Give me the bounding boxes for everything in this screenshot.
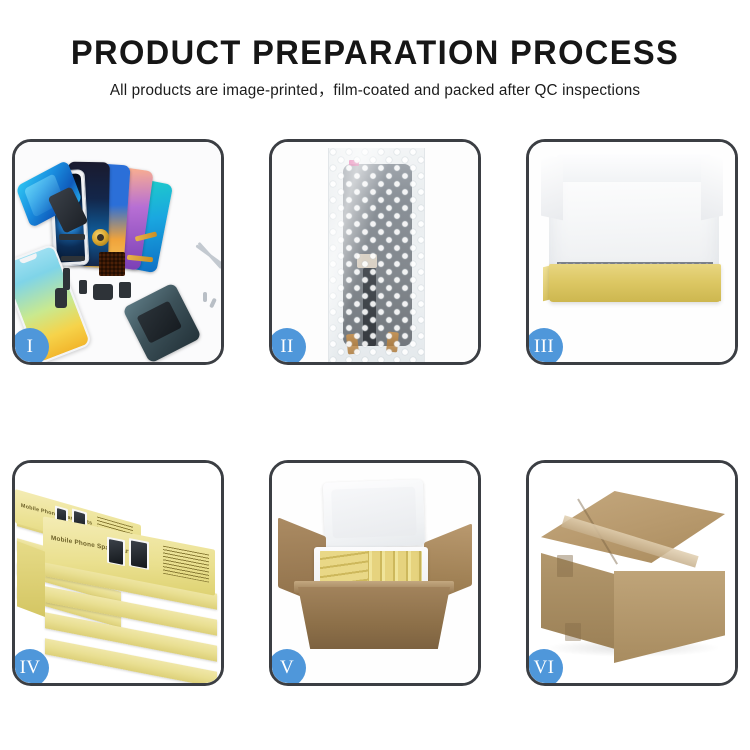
step-badge-1: I [12,328,49,365]
sim-tray-part [55,288,67,308]
process-step-4[interactable]: Mobile Phone Spare Parts Mobile Phone Sp… [12,460,224,686]
side-button-part [63,268,70,290]
page-subtitle: All products are image-printed，film-coat… [6,81,745,101]
process-step-6[interactable]: VI [526,460,738,686]
tweezers-tool [193,240,221,280]
process-step-1[interactable]: I [12,139,224,365]
step-badge-4: IV [12,649,49,686]
antenna-strip [61,256,85,261]
carton-tab-lower [565,623,581,641]
step-4-photo: Mobile Phone Spare Parts Mobile Phone Sp… [15,463,221,683]
step-badge-5: V [269,649,306,686]
step-6-photo [529,463,735,683]
foam-flap-right [701,154,723,221]
process-step-5[interactable]: V [269,460,481,686]
retail-box-stack: Mobile Phone Spare Parts Mobile Phone Sp… [15,473,221,679]
page-title: PRODUCT PREPARATION PROCESS [15,33,735,73]
connector-grid-chip [99,252,125,276]
bag-sheen [329,148,424,362]
camera-module [119,282,131,298]
earpiece-mesh-part [59,234,85,240]
speaker-module [93,284,113,300]
step-3-photo [529,142,735,362]
kraft-tray-body [549,264,721,302]
step-badge-3: III [526,328,563,365]
stack-left-side-face [17,541,45,617]
vibrator-motor [79,280,87,294]
carton-tab-upper [557,555,573,577]
step-2-photo [272,142,478,362]
process-step-2[interactable]: II [269,139,481,365]
styrofoam-lid [323,479,425,548]
step-badge-6: VI [526,649,563,686]
step-badge-2: II [269,328,306,365]
screw-part-a [203,292,207,302]
step-5-photo [272,463,478,683]
foam-back-wall [557,154,711,182]
process-step-3[interactable]: III [526,139,738,365]
carton-front-face [298,587,450,649]
box-spec-lines-front [163,546,209,583]
box-window-d [129,538,149,570]
header: PRODUCT PREPARATION PROCESS All products… [0,0,750,101]
box-window-c [107,537,125,566]
bubble-wrap-bag [328,148,425,362]
step-1-photo [15,142,221,362]
foam-flap-left [541,154,563,221]
process-step-grid: I II [12,139,738,686]
wireless-charging-coil [92,229,109,246]
product-preparation-infographic: PRODUCT PREPARATION PROCESS All products… [0,0,750,750]
